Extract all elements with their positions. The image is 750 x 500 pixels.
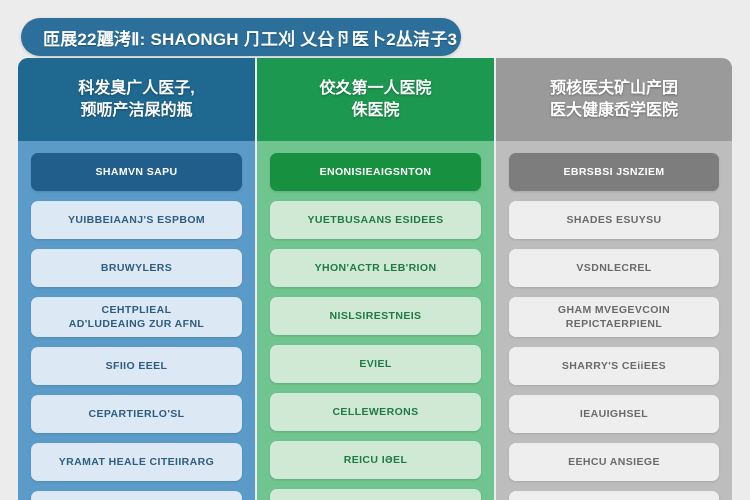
card-item[interactable]: NISLSIRESTNEIS [270,297,481,335]
card-text: REICU IƏEL [344,453,408,467]
column-header-line: 预呖产洁屎的瓶 [80,100,192,122]
card-item[interactable]: GHAM MVEGEVCOINREPICTAERPIENL [509,297,719,337]
card-text: ENONISIEAIGSNTON [320,165,432,179]
page-title-bar: 匝展22甅洘Ⅱ: SHAONGH ⺆工刈 乂㕣卪医卜2丛洁子3 [21,18,461,56]
column-header-0: 科发臭广人医子,预呖产洁屎的瓶 [18,58,255,141]
board-column-2: 预核医夫矿山产囝医大健康岙学医院EBRSBSI JSNZIEMSHADES ES… [496,58,732,500]
board: 科发臭广人医子,预呖产洁屎的瓶SHAMVN SAPUYUIBBEIAANJ'S … [18,58,732,500]
card-item[interactable]: YRAMAT HEALE CITEIIRARG [31,443,242,481]
card-item[interactable] [31,491,242,500]
card-item[interactable]: CEHTPLIEALAD'LUDEAING ZUR AFNL [31,297,242,337]
card-text-line: NISLSIRESTNEIS [330,309,422,323]
page-title: 匝展22甅洘Ⅱ: SHAONGH ⺆工刈 乂㕣卪医卜2丛洁子3 [43,25,457,50]
card-text: SFIIO EEEL [106,359,168,373]
card-item[interactable]: VSDNLECREL [509,249,719,287]
card-text-line: REICU IƏEL [344,453,408,467]
card-text-line: YUETBUSAANS ESIDEES [308,213,444,227]
card-item[interactable]: YHON'ACTR LEB'RION [270,249,481,287]
card-text: EEHCU ANSIEGE [568,455,660,469]
card-text: EBRSBSI JSNZIEM [563,165,664,179]
card-text: NISLSIRESTNEIS [330,309,422,323]
card-text-line: YUIBBEIAANJ'S ESPBOM [68,213,205,227]
card-item[interactable]: EVIEL [270,345,481,383]
card-list-1: ENONISIEAIGSNTONYUETBUSAANS ESIDEESYHON'… [257,141,494,500]
card-item[interactable]: REICU IƏEL [270,441,481,479]
card-text: CEPARTIERLO'SL [89,407,185,421]
card-text-line: SHAMVN SAPU [96,165,178,179]
card-text-line: VSDNLECREL [576,261,651,275]
card-text-line: CEHTPLIEAL [69,303,205,317]
card-text-line: REPICTAERPIENL [558,317,670,331]
card-item-active[interactable]: EBRSBSI JSNZIEM [509,153,719,191]
card-item[interactable]: SHARRY'S CEiiEES [509,347,719,385]
card-text-line: EVIEL [359,357,391,371]
column-header-line: 医大健康岙学医院 [550,100,678,122]
card-text: YHON'ACTR LEB'RION [315,261,437,275]
card-text: CEHTPLIEALAD'LUDEAING ZUR AFNL [69,303,205,331]
card-list-2: EBRSBSI JSNZIEMSHADES ESUYSUVSDNLECRELGH… [496,141,732,500]
column-header-line: 预核医夫矿山产囝 [550,78,678,100]
card-text: GHAM MVEGEVCOINREPICTAERPIENL [558,303,670,331]
card-text-line: CEPARTIERLO'SL [89,407,185,421]
card-text: SHAMVN SAPU [96,165,178,179]
board-column-0: 科发臭广人医子,预呖产洁屎的瓶SHAMVN SAPUYUIBBEIAANJ'S … [18,58,255,500]
card-text: YUETBUSAANS ESIDEES [308,213,444,227]
page-root: 匝展22甅洘Ⅱ: SHAONGH ⺆工刈 乂㕣卪医卜2丛洁子3 科发臭广人医子,… [0,0,750,500]
card-item[interactable]: SHADES ESUYSU [509,201,719,239]
card-text: SHARRY'S CEiiEES [562,359,666,373]
card-item[interactable]: YUIBBEIAANJ'S ESPBOM [31,201,242,239]
card-item[interactable]: CELLEWERONS [270,393,481,431]
card-item[interactable] [270,489,481,500]
card-text-line: YHON'ACTR LEB'RION [315,261,437,275]
board-column-1: 佼夊第一人医院侏医院ENONISIEAIGSNTONYUETBUSAANS ES… [257,58,494,500]
card-item-active[interactable]: SHAMVN SAPU [31,153,242,191]
card-text-line: SHARRY'S CEiiEES [562,359,666,373]
card-text: VSDNLECREL [576,261,651,275]
card-item[interactable]: CEPARTIERLO'SL [31,395,242,433]
column-header-line: 侏医院 [351,100,399,122]
card-text-line: GHAM MVEGEVCOIN [558,303,670,317]
card-text-line: CELLEWERONS [332,405,418,419]
card-text: IEAUIGHSEL [580,407,648,421]
card-item[interactable]: EEHCU ANSIEGE [509,443,719,481]
column-header-1: 佼夊第一人医院侏医院 [257,58,494,141]
card-item[interactable] [509,491,719,500]
card-item[interactable]: BRUWYLERS [31,249,242,287]
card-text: YRAMAT HEALE CITEIIRARG [59,455,214,469]
card-text-line: EBRSBSI JSNZIEM [563,165,664,179]
card-text: EVIEL [359,357,391,371]
card-item[interactable]: YUETBUSAANS ESIDEES [270,201,481,239]
card-text: YUIBBEIAANJ'S ESPBOM [68,213,205,227]
card-text-line: ENONISIEAIGSNTON [320,165,432,179]
card-text: CELLEWERONS [332,405,418,419]
card-item[interactable]: SFIIO EEEL [31,347,242,385]
card-list-0: SHAMVN SAPUYUIBBEIAANJ'S ESPBOMBRUWYLERS… [18,141,255,500]
card-text-line: YRAMAT HEALE CITEIIRARG [59,455,214,469]
column-header-2: 预核医夫矿山产囝医大健康岙学医院 [496,58,732,141]
column-header-line: 科发臭广人医子, [78,78,194,100]
card-item[interactable]: IEAUIGHSEL [509,395,719,433]
card-text-line: BRUWYLERS [101,261,172,275]
card-text-line: SHADES ESUYSU [566,213,661,227]
card-text-line: EEHCU ANSIEGE [568,455,660,469]
card-text: BRUWYLERS [101,261,172,275]
card-text-line: IEAUIGHSEL [580,407,648,421]
column-header-line: 佼夊第一人医院 [319,78,431,100]
card-text: SHADES ESUYSU [566,213,661,227]
card-text-line: AD'LUDEAING ZUR AFNL [69,317,205,331]
card-item-active[interactable]: ENONISIEAIGSNTON [270,153,481,191]
card-text-line: SFIIO EEEL [106,359,168,373]
